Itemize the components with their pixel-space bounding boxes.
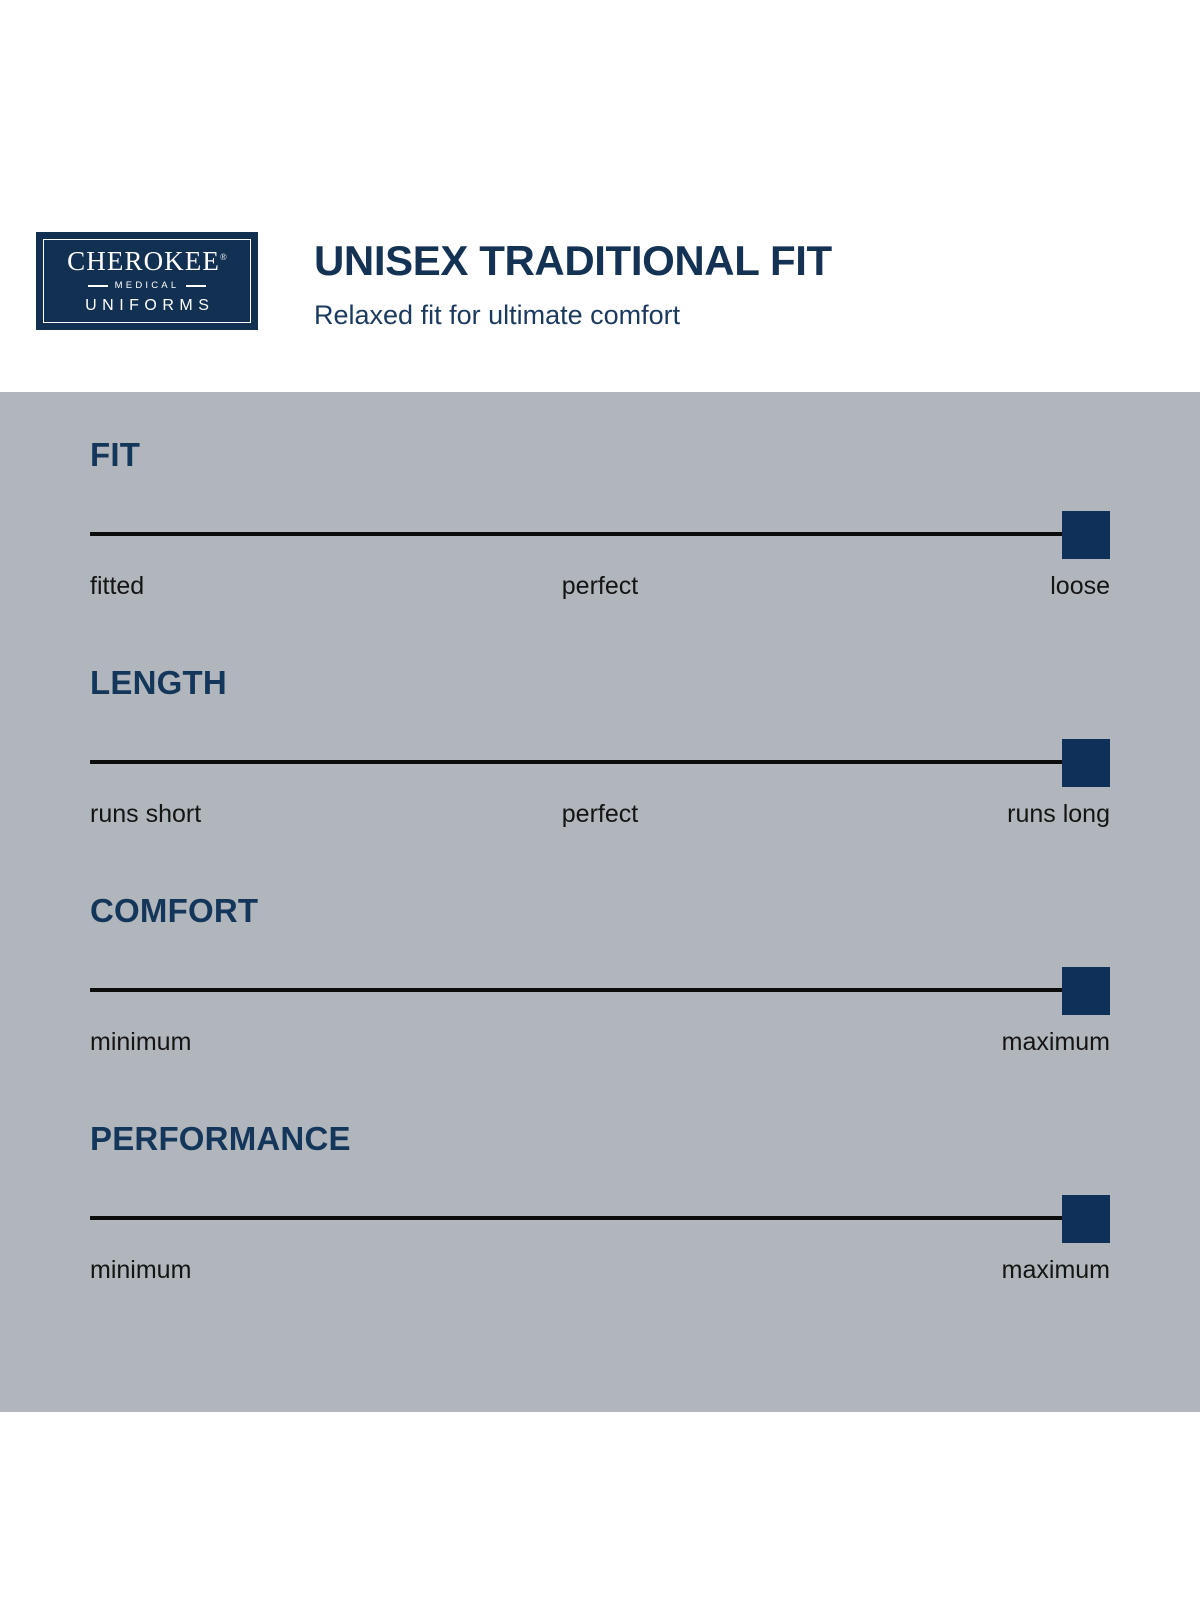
- brand-medical-line: MEDICAL: [88, 281, 207, 291]
- meter-title: LENGTH: [90, 666, 227, 699]
- brand-wordmark: CHEROKEE®: [67, 248, 227, 275]
- meter-slider[interactable]: [90, 967, 1110, 1015]
- meter-label-start: runs short: [90, 799, 201, 829]
- fit-attributes-panel: FITfittedperfectlooseLENGTHruns shortper…: [0, 392, 1200, 1412]
- meter-marker-handle[interactable]: [1062, 967, 1110, 1015]
- page-title: UNISEX TRADITIONAL FIT: [314, 240, 832, 282]
- meter-title: COMFORT: [90, 894, 258, 927]
- brand-wordmark-text: CHEROKEE: [67, 246, 220, 276]
- meter-label-end: runs long: [1007, 799, 1110, 829]
- page-subtitle: Relaxed fit for ultimate comfort: [314, 302, 832, 329]
- meter-title: PERFORMANCE: [90, 1122, 351, 1155]
- meter-label-end: maximum: [1002, 1027, 1110, 1057]
- meter-label-end: loose: [1050, 571, 1110, 601]
- meter-scale-labels: runs shortperfectruns long: [90, 799, 1110, 833]
- meter-track: [90, 988, 1110, 992]
- meter-label-start: minimum: [90, 1255, 191, 1285]
- registered-trademark-icon: ®: [220, 252, 227, 262]
- cherokee-brand-logo: CHEROKEE® MEDICAL UNIFORMS: [36, 232, 258, 330]
- meter-slider[interactable]: [90, 1195, 1110, 1243]
- meter-marker-handle[interactable]: [1062, 1195, 1110, 1243]
- meter-scale-labels: fittedperfectloose: [90, 571, 1110, 605]
- rule-left-divider: [88, 285, 108, 287]
- meter-label-start: fitted: [90, 571, 144, 601]
- meter-scale-labels: minimummaximum: [90, 1027, 1110, 1061]
- meter-fit: FITfittedperfectloose: [90, 438, 1110, 666]
- meter-comfort: COMFORTminimummaximum: [90, 894, 1110, 1122]
- meter-track: [90, 760, 1110, 764]
- meter-scale-labels: minimummaximum: [90, 1255, 1110, 1289]
- brand-uniforms-text: UNIFORMS: [80, 298, 215, 314]
- page-header: CHEROKEE® MEDICAL UNIFORMS UNISEX TRADIT…: [0, 0, 1200, 392]
- meter-marker-handle[interactable]: [1062, 739, 1110, 787]
- meter-length: LENGTHruns shortperfectruns long: [90, 666, 1110, 894]
- meter-label-mid: perfect: [562, 571, 638, 601]
- meter-slider[interactable]: [90, 739, 1110, 787]
- meter-marker-handle[interactable]: [1062, 511, 1110, 559]
- fit-guide-page: CHEROKEE® MEDICAL UNIFORMS UNISEX TRADIT…: [0, 0, 1200, 1600]
- meter-slider[interactable]: [90, 511, 1110, 559]
- meter-title: FIT: [90, 438, 140, 471]
- rule-right-divider: [186, 285, 206, 287]
- meter-performance: PERFORMANCEminimummaximum: [90, 1122, 1110, 1350]
- meter-label-mid: perfect: [562, 799, 638, 829]
- brand-medical-text: MEDICAL: [115, 281, 180, 291]
- meter-track: [90, 532, 1110, 536]
- title-block: UNISEX TRADITIONAL FIT Relaxed fit for u…: [314, 240, 832, 329]
- brand-logo-inner-border: CHEROKEE® MEDICAL UNIFORMS: [43, 239, 251, 323]
- meter-track: [90, 1216, 1110, 1220]
- meter-label-end: maximum: [1002, 1255, 1110, 1285]
- meter-label-start: minimum: [90, 1027, 191, 1057]
